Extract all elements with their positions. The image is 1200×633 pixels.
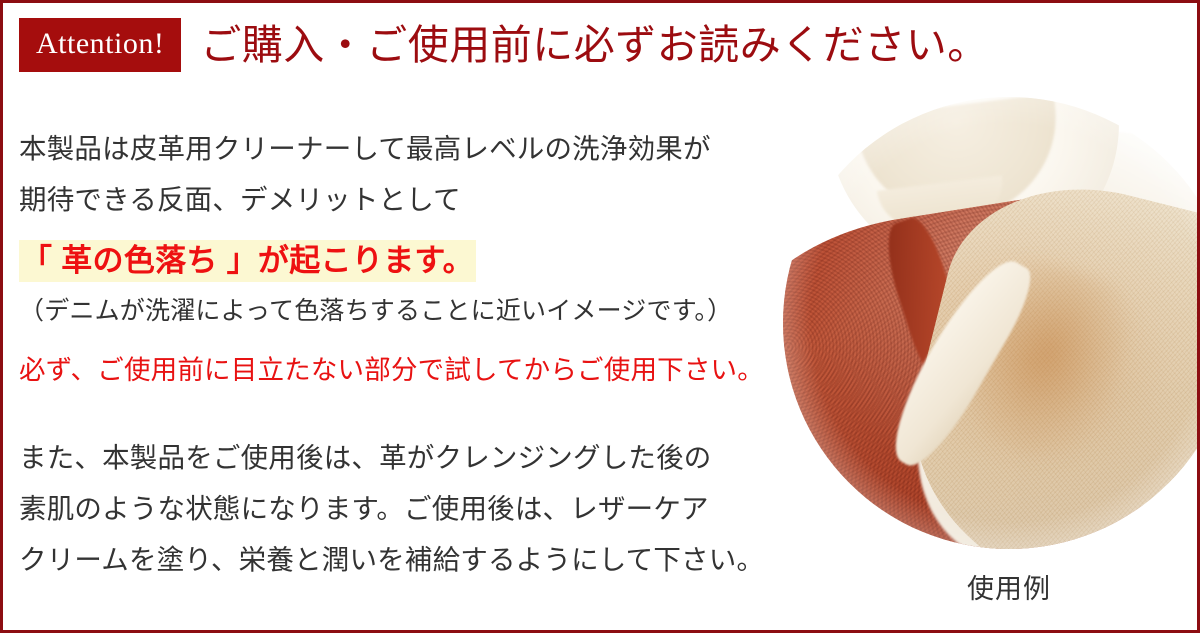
spot-test-warning: 必ず、ご使用前に目立たない部分で試してからご使用下さい。 [19,350,749,390]
banner-header: Attention! ご購入・ご使用前に必ずお読みください。 [3,3,1197,87]
closing-line-2: 素肌のような状態になります。ご使用後は、レザーケア [19,483,749,534]
color-transfer-highlight: 「 革の色落ち 」が起こります。 [19,240,476,282]
leather-photo [783,97,1200,549]
aftercare-paragraph: また、本製品をご使用後は、革がクレンジングした後の 素肌のような状態になります。… [19,432,749,585]
closing-line-3: クリームを塗り、栄養と潤いを補給するようにして下さい。 [19,534,749,585]
usage-example-figure: 使用例 [783,97,1200,633]
intro-paragraph: 本製品は皮革用クリーナーして最高レベルの洗浄効果が 期待できる反面、デメリットと… [19,123,749,225]
denim-analogy-note: （デニムが洗濯によって色落ちすることに近いイメージです。） [19,291,749,331]
photo-caption: 使用例 [783,567,1200,606]
warning-text-column: 本製品は皮革用クリーナーして最高レベルの洗浄効果が 期待できる反面、デメリットと… [19,123,749,585]
highlight-paragraph: 「 革の色落ち 」が起こります。 [19,238,749,285]
attention-badge: Attention! [19,18,181,72]
closing-line-1: また、本製品をご使用後は、革がクレンジングした後の [19,432,749,483]
page-title: ご購入・ご使用前に必ずお読みください。 [200,25,989,66]
attention-banner: Attention! ご購入・ご使用前に必ずお読みください。 本製品は皮革用クリ… [0,0,1200,633]
intro-line-2: 期待できる反面、デメリットとして [19,174,749,225]
intro-line-1: 本製品は皮革用クリーナーして最高レベルの洗浄効果が [19,123,749,174]
